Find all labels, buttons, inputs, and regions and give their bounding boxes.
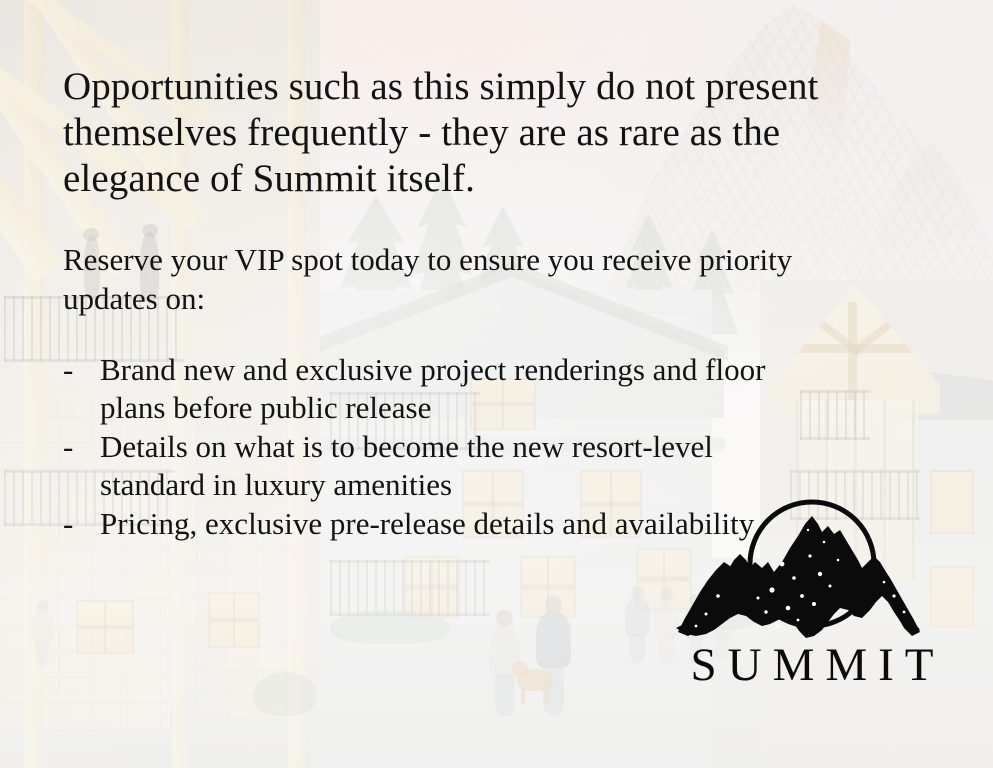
- list-item-text: Details on what is to become the new res…: [100, 429, 713, 502]
- list-item-text: Brand new and exclusive project renderin…: [100, 352, 765, 425]
- list-item: - Brand new and exclusive project render…: [63, 351, 823, 427]
- bullet-dash: -: [63, 505, 73, 543]
- logo-wordmark: SUMMIT: [662, 638, 962, 692]
- headline-text: Opportunities such as this simply do not…: [63, 64, 823, 202]
- summit-mountain-circle-icon: [662, 486, 962, 656]
- bullet-dash: -: [63, 351, 73, 389]
- marketing-slide: Opportunities such as this simply do not…: [0, 0, 993, 768]
- bullet-dash: -: [63, 428, 73, 466]
- list-item-text: Pricing, exclusive pre-release details a…: [100, 506, 754, 541]
- subheadline-text: Reserve your VIP spot today to ensure yo…: [63, 240, 823, 318]
- summit-logo: SUMMIT: [662, 486, 962, 711]
